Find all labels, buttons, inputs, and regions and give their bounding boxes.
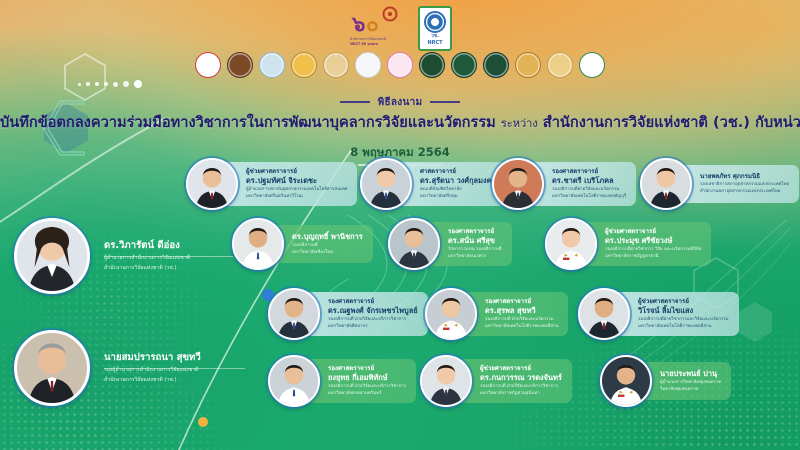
person-card-p3[interactable]: รองศาสตราจารย์ดร.ชาตรี เบริโภคลรองอธิการ… bbox=[492, 158, 636, 210]
nrct-logo-line2: NRCT bbox=[427, 41, 442, 46]
person-name: ดร.ชาตรี เบริโภคล bbox=[552, 176, 626, 186]
nrct-logo-line1: วช. bbox=[431, 34, 439, 39]
person-sub1: รองอธิการบดี ฝ่ายวิจัยและบริการวิชาการ bbox=[480, 384, 562, 390]
avatar bbox=[388, 218, 440, 270]
svg-text:๐: ๐ bbox=[366, 12, 379, 36]
person-card-p5[interactable]: ดร.บุญฤทธิ์ พานิชการรองอธิการบดีมหาวิทยา… bbox=[232, 218, 373, 270]
avatar bbox=[360, 158, 412, 210]
person-sub1: รองอธิการบดี ฝ่ายวิจัยและนวัตกรรม bbox=[485, 317, 558, 323]
person-name: ดร.ปฐมทัศน์ จิระเดชะ bbox=[246, 176, 347, 186]
person-sub2: วิทยาลัยชุมชนตราด bbox=[660, 387, 721, 393]
person-card-p6[interactable]: รองศาสตราจารย์ดร.สนั่น ศรีสุขรักษาการแทน… bbox=[388, 218, 512, 270]
header-text-block: พิธีลงนาม บันทึกข้อตกลงความร่วมมือทางวิช… bbox=[0, 88, 800, 166]
person-sub1: ผู้อำนวยการสำนักงานการวิจัยแห่งชาติ bbox=[104, 255, 190, 262]
person-sub1: รองอธิการบดี ฝ่ายวิจัยและบริการวิชาการ bbox=[328, 384, 406, 390]
person-name-plate: รองศาสตราจารย์ดร.ณฐพงศ์ จักรเพชรไพบูลย์ร… bbox=[302, 292, 428, 336]
person-role: ศาสตราจารย์ bbox=[420, 168, 496, 176]
person-role: รองศาสตราจารย์ bbox=[328, 365, 406, 373]
logo-red-cross bbox=[195, 52, 221, 78]
avatar bbox=[14, 330, 90, 406]
person-name: ดร.สนั่น ศรีสุข bbox=[448, 236, 502, 246]
avatar bbox=[640, 158, 692, 210]
logo-temple-gold bbox=[515, 52, 541, 78]
person-name-plate: ผู้ช่วยศาสตราจารย์วิโรจน์ ลิ้มไขแสงรองอธ… bbox=[612, 292, 739, 336]
person-name: ดร.วิภารัตน์ ดีอ่อง bbox=[104, 240, 190, 252]
person-sub2: มหาวิทยาลัยศิลปากร bbox=[328, 324, 418, 330]
avatar bbox=[420, 355, 472, 407]
person-sub2: มหาวิทยาลัยเทคโนโลยีราชมงคลอีสาน bbox=[638, 324, 729, 330]
person-sub2: มหาวิทยาลัยนเรศวร bbox=[448, 254, 502, 260]
person-role: นายพลภัทร ศุภกรมนิธิ bbox=[700, 173, 789, 181]
avatar bbox=[578, 288, 630, 340]
anniversary-60-logo: ๖ ๐ สำนักงานการวิจัยแห่งชาติ NRCT 60 yea… bbox=[348, 5, 404, 51]
person-card-p13[interactable]: นายประพนธ์ ปานุผู้อำนวยการวิทยาลัยชุมชนต… bbox=[600, 355, 731, 407]
top-logos-row: ๖ ๐ สำนักงานการวิจัยแห่งชาติ NRCT 60 yea… bbox=[0, 5, 800, 51]
person-sub2: สำนักงานการวิจัยแห่งชาติ (วช.) bbox=[104, 265, 190, 272]
person-sub1: รองผู้อำนวยการสำนักงานการวิจัยแห่งชาติ bbox=[104, 367, 201, 374]
person-sub1: ผู้อำนวยการวิทยาลัยชุมชนตราด bbox=[660, 380, 721, 386]
person-role: รองศาสตราจารย์ bbox=[448, 228, 502, 236]
logo-lamp bbox=[259, 52, 285, 78]
dot-trail-decoration bbox=[78, 80, 142, 88]
hexagon-filled-right-icon bbox=[735, 300, 775, 344]
avatar bbox=[186, 158, 238, 210]
person-name: นายสมปรารถนา สุขทวี bbox=[104, 352, 201, 364]
person-card-p9[interactable]: รองศาสตราจารย์ดร.สุรพล สุขทวีรองอธิการบด… bbox=[425, 288, 568, 340]
person-sub2: มหาวิทยาลัยเทคโนโลยีราชมงคลอีสาน bbox=[485, 324, 558, 330]
person-name: ดร.บุญฤทธิ์ พานิชการ bbox=[292, 232, 363, 242]
person-sub2: มหาวิทยาลัยสงขลานครินทร์ bbox=[328, 391, 406, 397]
nrct-gear-icon bbox=[424, 11, 446, 33]
person-name: ยงยุทธ กี่เอมพิทักษ์ bbox=[328, 373, 406, 383]
person-sub1: รองอธิการบดีฝ่ายวิชาการและวิจัยและนวัตกร… bbox=[638, 317, 729, 323]
poster-canvas: ๖ ๐ สำนักงานการวิจัยแห่งชาติ NRCT 60 yea… bbox=[0, 0, 800, 450]
logo-dark-green-1 bbox=[419, 52, 445, 78]
person-role: ผู้ช่วยศาสตราจารย์ bbox=[246, 168, 347, 176]
logo-dark-green-2 bbox=[451, 52, 477, 78]
avatar bbox=[232, 218, 284, 270]
nrct-logo: วช. NRCT bbox=[418, 6, 452, 51]
avatar bbox=[268, 355, 320, 407]
logo-green-seal bbox=[579, 52, 605, 78]
avatar bbox=[268, 288, 320, 340]
person-name: ดร.สุรัตนา วงศ์กุลมงคล bbox=[420, 176, 496, 186]
partner-logos-row bbox=[0, 52, 800, 78]
featured-person-somprattana[interactable]: นายสมปรารถนา สุขทวี รองผู้อำนวยการสำนักง… bbox=[14, 330, 211, 406]
person-name: ดร.กนกวรรณ วรดงจันทร์ bbox=[480, 373, 562, 383]
person-sub2: มหาวิทยาลัยศรีนครินทรวิโรฒ bbox=[246, 194, 347, 200]
person-card-p2[interactable]: ศาสตราจารย์ดร.สุรัตนา วงศ์กุลมงคลคณบดีบั… bbox=[360, 158, 506, 210]
person-card-p12[interactable]: ผู้ช่วยศาสตราจารย์ดร.กนกวรรณ วรดงจันทร์ร… bbox=[420, 355, 572, 407]
logo-elephant bbox=[227, 52, 253, 78]
person-card-p7[interactable]: ผู้ช่วยศาสตราจารย์ดร.ประมุข ศรีชัยวงษ์รอ… bbox=[545, 218, 711, 270]
title-between-text: ระหว่าง bbox=[501, 117, 538, 130]
person-name-plate: ผู้ช่วยศาสตราจารย์ดร.ประมุข ศรีชัยวงษ์รอ… bbox=[579, 222, 711, 266]
person-sub1: ผู้อำนวยการสถาบันอุตสาหกรรมเทคโนโลยีสารส… bbox=[246, 187, 347, 193]
logo-shell-white bbox=[355, 52, 381, 78]
featured-text-block: ดร.วิภารัตน์ ดีอ่อง ผู้อำนวยการสำนักงานก… bbox=[96, 234, 200, 278]
person-card-p8[interactable]: รองศาสตราจารย์ดร.ณฐพงศ์ จักรเพชรไพบูลย์ร… bbox=[268, 288, 428, 340]
person-sub1: รองเลขาธิการสภาอุตสาหกรรมแห่งประเทศไทย bbox=[700, 182, 789, 188]
title-tail-text: สำนักงานการวิจัยแห่งชาติ (วช.) กับหน่วยง… bbox=[543, 114, 800, 131]
person-name: ดร.สุรพล สุขทวี bbox=[485, 306, 558, 316]
person-role: ผู้ช่วยศาสตราจารย์ bbox=[638, 298, 729, 306]
person-name: ดร.ประมุข ศรีชัยวงษ์ bbox=[605, 236, 701, 246]
person-sub1: รองอธิการบดี ฝ่ายวิจัยและบริการวิชาการ bbox=[328, 317, 418, 323]
svg-text:๖: ๖ bbox=[351, 12, 365, 36]
person-sub1: รองอธิการบดีฝ่ายวิชาการ วิจัย และนวัตกรร… bbox=[605, 247, 701, 253]
person-sub2: มหาวิทยาลัยเชียงใหม่ bbox=[292, 250, 363, 256]
person-name-plate: ผู้ช่วยศาสตราจารย์ดร.ปฐมทัศน์ จิระเดชะผู… bbox=[220, 162, 357, 206]
page-title: บันทึกข้อตกลงความร่วมมือทางวิชาการในการพ… bbox=[0, 114, 800, 132]
person-name: นายประพนธ์ ปานุ bbox=[660, 369, 721, 379]
person-sub2: มหาวิทยาลัยราชภัฏอุดรธานี bbox=[605, 254, 701, 260]
person-sub2: มหาวิทยาลัยศรีปทุม bbox=[420, 194, 496, 200]
person-sub1: คณบดีบัณฑิตวิทยาลัย bbox=[420, 187, 496, 193]
featured-text-block: นายสมปรารถนา สุขทวี รองผู้อำนวยการสำนักง… bbox=[96, 346, 211, 390]
logo-garuda-gold bbox=[323, 52, 349, 78]
logo-crown-gold bbox=[291, 52, 317, 78]
avatar bbox=[545, 218, 597, 270]
person-card-p1[interactable]: ผู้ช่วยศาสตราจารย์ดร.ปฐมทัศน์ จิระเดชะผู… bbox=[186, 158, 357, 210]
avatar bbox=[492, 158, 544, 210]
person-name: ดร.ณฐพงศ์ จักรเพชรไพบูลย์ bbox=[328, 306, 418, 316]
avatar bbox=[600, 355, 652, 407]
person-role: ผู้ช่วยศาสตราจารย์ bbox=[605, 228, 701, 236]
person-card-p10[interactable]: ผู้ช่วยศาสตราจารย์วิโรจน์ ลิ้มไขแสงรองอธ… bbox=[578, 288, 739, 340]
person-card-p4[interactable]: นายพลภัทร ศุภกรมนิธิรองเลขาธิการสภาอุตสา… bbox=[640, 158, 799, 210]
svg-text:NRCT 60 years: NRCT 60 years bbox=[350, 42, 378, 46]
logo-pyramid-gold bbox=[547, 52, 573, 78]
person-card-p11[interactable]: รองศาสตราจารย์ยงยุทธ กี่เอมพิทักษ์รองอธิ… bbox=[268, 355, 416, 407]
title-main-text: บันทึกข้อตกลงความร่วมมือทางวิชาการในการพ… bbox=[0, 114, 496, 131]
featured-person-wipharat[interactable]: ดร.วิภารัตน์ ดีอ่อง ผู้อำนวยการสำนักงานก… bbox=[14, 218, 200, 294]
avatar bbox=[425, 288, 477, 340]
person-sub2: มหาวิทยาลัยเทคโนโลยีราชมงคลธัญบุรี bbox=[552, 194, 626, 200]
avatar bbox=[14, 218, 90, 294]
person-role: ผู้ช่วยศาสตราจารย์ bbox=[480, 365, 562, 373]
eyebrow-label: พิธีลงนาม bbox=[340, 95, 461, 110]
person-sub2: มหาวิทยาลัยราชภัฏสวนสุนันทา bbox=[480, 391, 562, 397]
person-sub1: รองอธิการบดีฝ่ายวิจัยและนวัตกรรม bbox=[552, 187, 626, 193]
person-sub1: รองอธิการบดี bbox=[292, 243, 363, 249]
person-name: วิโรจน์ ลิ้มไขแสง bbox=[638, 306, 729, 316]
logo-pink-ring bbox=[387, 52, 413, 78]
person-sub2: สำนักงานการวิจัยแห่งชาติ (วช.) bbox=[104, 377, 201, 384]
svg-text:สำนักงานการวิจัยแห่งชาติ: สำนักงานการวิจัยแห่งชาติ bbox=[350, 37, 386, 41]
person-sub2: สำนักงานสภาอุตสาหกรรมแห่งประเทศไทย bbox=[700, 189, 789, 195]
person-name-plate: นายพลภัทร ศุภกรมนิธิรองเลขาธิการสภาอุตสา… bbox=[674, 165, 799, 203]
person-role: รองศาสตราจารย์ bbox=[485, 298, 558, 306]
logo-dark-green-3 bbox=[483, 52, 509, 78]
person-role: รองศาสตราจารย์ bbox=[552, 168, 626, 176]
person-sub1: รักษาการแทน รองอธิการบดี bbox=[448, 247, 502, 253]
person-role: รองศาสตราจารย์ bbox=[328, 298, 418, 306]
